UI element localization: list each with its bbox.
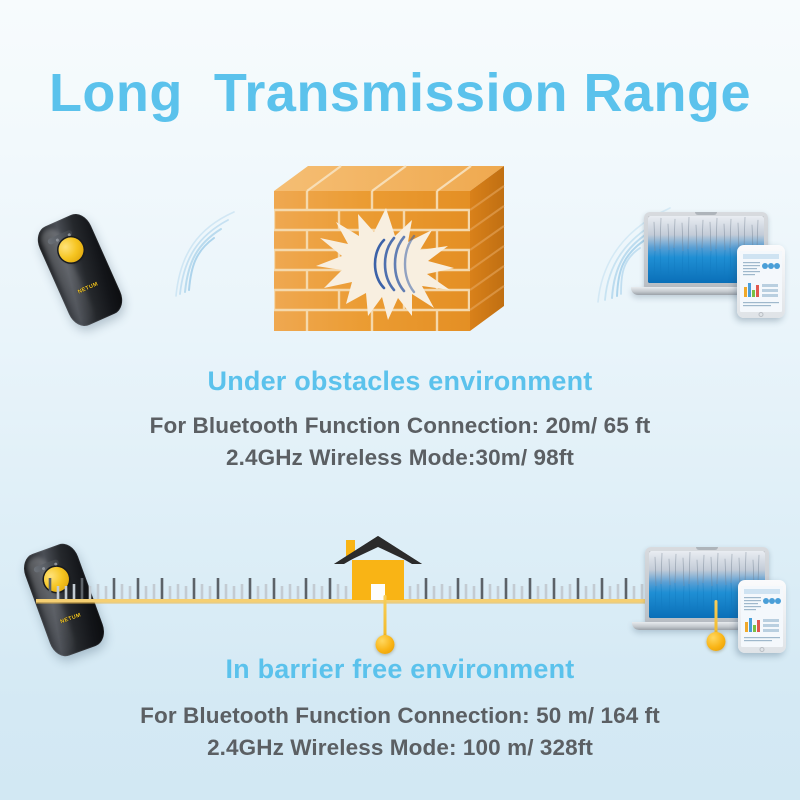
section-body-obstacles: For Bluetooth Function Connection: 20m/ … (0, 410, 800, 474)
map-marker-icon (375, 595, 394, 645)
device-group-top (644, 212, 796, 320)
house-icon (330, 534, 426, 602)
obstacles-bluetooth-line: For Bluetooth Function Connection: 20m/ … (0, 410, 800, 442)
barrierfree-bluetooth-value: 50 m/ 164 ft (536, 703, 660, 728)
section-body-barrier-free: For Bluetooth Function Connection: 50 m/… (0, 700, 800, 764)
page-title: Long Transmission Range (0, 66, 800, 120)
tablet-screen (740, 251, 782, 312)
obstacles-wireless-value: 30m/ 98ft (476, 445, 574, 470)
obstacles-wireless-line: 2.4GHz Wireless Mode:30m/ 98ft (0, 442, 800, 474)
obstacles-bluetooth-value: 20m/ 65 ft (546, 413, 651, 438)
tablet-icon (737, 245, 785, 318)
section-heading-barrier-free: In barrier free environment (0, 654, 800, 685)
barcode-scanner-icon: NETUM (32, 209, 127, 330)
tablet-screen (741, 586, 783, 647)
section-heading-obstacles: Under obstacles environment (0, 366, 800, 397)
barrierfree-bluetooth-text: For Bluetooth Function Connection: (140, 703, 536, 728)
obstacles-wireless-text: 2.4GHz Wireless Mode: (226, 445, 475, 470)
scanner-body: NETUM (32, 209, 127, 330)
signal-wave-icon (158, 206, 244, 302)
map-marker-icon (706, 600, 725, 642)
barrierfree-wireless-text: 2.4GHz Wireless Mode: (207, 735, 463, 760)
obstacles-bluetooth-text: For Bluetooth Function Connection: (150, 413, 546, 438)
laptop-camera-bar (695, 212, 717, 215)
barrierfree-wireless-value: 100 m/ 328ft (463, 735, 593, 760)
marker-dot (375, 635, 394, 654)
tablet-home-button (760, 647, 765, 652)
marker-dot (706, 632, 725, 651)
barrierfree-wireless-line: 2.4GHz Wireless Mode: 100 m/ 328ft (0, 732, 800, 764)
brick-wall-icon (262, 158, 510, 342)
tablet-icon (738, 580, 786, 653)
infographic-canvas: Long Transmission Range NETUM (0, 0, 800, 800)
barrierfree-bluetooth-line: For Bluetooth Function Connection: 50 m/… (0, 700, 800, 732)
laptop-camera-bar (696, 547, 718, 550)
tablet-home-button (759, 312, 764, 317)
